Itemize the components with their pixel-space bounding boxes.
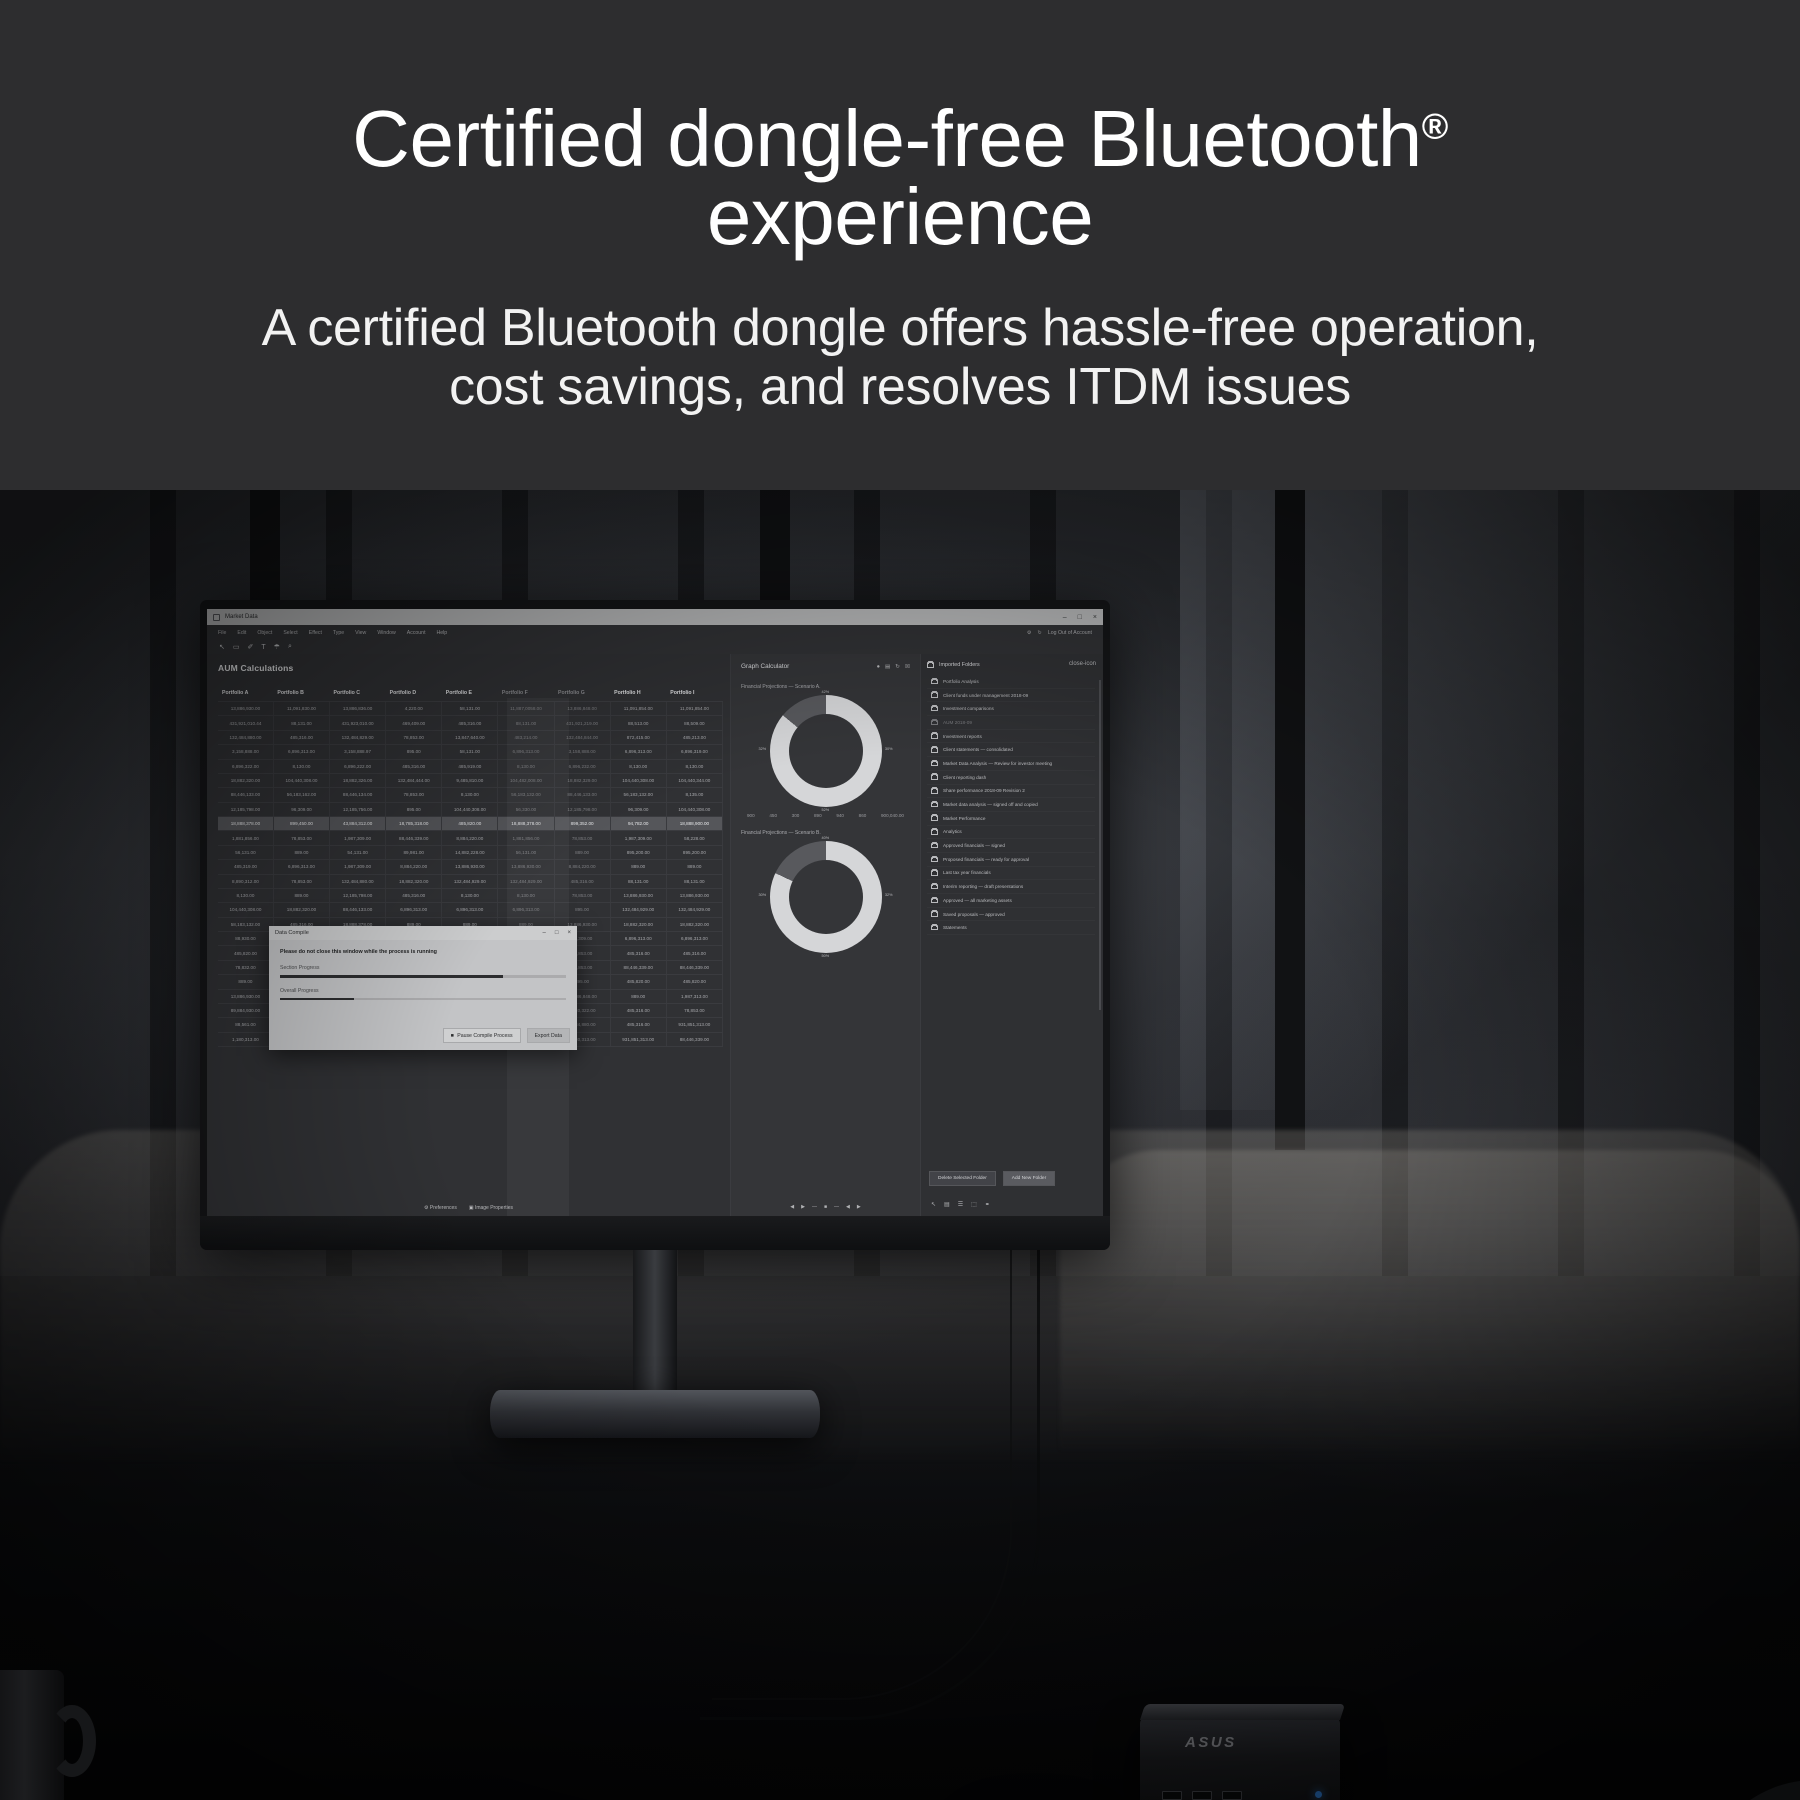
folder-list-item[interactable]: AUM 2018-09 bbox=[927, 716, 1095, 730]
table-cell[interactable]: 88,446,339.00 bbox=[386, 831, 442, 845]
table-cell[interactable]: 889.00 bbox=[554, 845, 610, 859]
sort-icon[interactable]: ☰ bbox=[958, 1201, 963, 1208]
folder-list-item[interactable]: Statements bbox=[927, 921, 1095, 935]
grid-icon[interactable]: ▤ bbox=[885, 664, 890, 670]
table-cell[interactable]: 6,896,232.00 bbox=[554, 759, 610, 773]
table-cell[interactable]: 485,319.00 bbox=[218, 860, 273, 874]
table-row[interactable]: 3,158,888.006,896,313.003,158,888.97895.… bbox=[218, 745, 723, 759]
folder-label: Investment comparisons bbox=[943, 706, 994, 711]
table-cell[interactable]: 931,851,313.00 bbox=[610, 1032, 666, 1046]
table-cell[interactable]: 88,131.00 bbox=[273, 716, 329, 730]
close-icon[interactable]: close-icon bbox=[1069, 661, 1096, 667]
folder-label: Saved proposals — approved bbox=[943, 912, 1005, 917]
column-header[interactable]: Portfolio I bbox=[666, 685, 722, 702]
table-cell[interactable]: 485,820.00 bbox=[442, 817, 498, 831]
donut-hole bbox=[789, 714, 863, 788]
table-cell[interactable]: 13,886,930.00 bbox=[218, 702, 273, 716]
move-icon[interactable]: ↖ bbox=[931, 1201, 936, 1208]
chart-label-left: 30% bbox=[759, 893, 767, 897]
tag-icon[interactable]: ⬚ bbox=[971, 1201, 977, 1208]
table-cell[interactable]: 132,484,829.00 bbox=[330, 730, 386, 744]
table-cell[interactable]: 12,185,798.00 bbox=[330, 888, 386, 902]
donut-ring: 40%30%32%50% bbox=[770, 841, 882, 953]
table-cell[interactable]: 13,847,640.00 bbox=[442, 730, 498, 744]
folder-icon bbox=[931, 706, 938, 712]
table-cell[interactable]: 18,888,900.00 bbox=[666, 817, 722, 831]
table-cell[interactable]: 8,884,220.00 bbox=[442, 831, 498, 845]
data-compile-dialog[interactable]: Data Compile – □ × Please do not close t… bbox=[269, 926, 577, 1050]
graph-tool-icon[interactable]: ■ bbox=[824, 1204, 827, 1210]
folder-icon bbox=[931, 829, 938, 835]
graph-tool-icon[interactable]: ▶ bbox=[857, 1204, 861, 1210]
table-cell[interactable]: 485,316.00 bbox=[386, 759, 442, 773]
graph-tool-icon[interactable]: ◀ bbox=[790, 1204, 794, 1210]
table-cell[interactable]: 1,881,856.00 bbox=[498, 831, 554, 845]
hero-text-block: Certified dongle-free Bluetooth® experie… bbox=[0, 0, 1800, 520]
table-cell[interactable]: 18,882,320.00 bbox=[218, 773, 273, 787]
folder-label: Analytics bbox=[943, 829, 962, 834]
table-cell[interactable]: 88,446,133.00 bbox=[218, 788, 273, 802]
table-cell[interactable]: 132,484,929.00 bbox=[610, 903, 666, 917]
table-cell[interactable]: 58,131.00 bbox=[442, 745, 498, 759]
table-cell[interactable]: 6,896,313.00 bbox=[666, 932, 722, 946]
table-cell[interactable]: 6,896,222.00 bbox=[330, 759, 386, 773]
table-cell[interactable]: 56,183,162.00 bbox=[273, 788, 329, 802]
table-cell[interactable]: 13,886,930.00 bbox=[610, 888, 666, 902]
table-row[interactable]: 18,882,320.00104,440,308.0018,882,326.00… bbox=[218, 773, 723, 787]
page-subtitle: A certified Bluetooth dongle offers hass… bbox=[262, 299, 1539, 418]
table-cell[interactable]: 889.00 bbox=[610, 860, 666, 874]
table-cell[interactable]: 18,888,378.00 bbox=[498, 817, 554, 831]
table-cell[interactable]: 3,158,888.00 bbox=[554, 745, 610, 759]
menu-item-account[interactable]: Account bbox=[407, 630, 426, 636]
tick-label: 450 bbox=[769, 813, 777, 818]
dialog-maximize-button[interactable]: □ bbox=[555, 930, 559, 936]
table-cell[interactable]: 895.00 bbox=[386, 745, 442, 759]
table-cell[interactable]: 78,853.00 bbox=[554, 831, 610, 845]
table-cell[interactable]: 104,440,308.00 bbox=[273, 773, 329, 787]
table-cell[interactable]: 58,183,132.00 bbox=[218, 917, 273, 931]
table-cell[interactable]: 889.00 bbox=[610, 989, 666, 1003]
column-header[interactable]: Portfolio D bbox=[386, 685, 442, 702]
table-cell[interactable]: 8,884,220.00 bbox=[554, 860, 610, 874]
folder-list-item[interactable]: Market data analysis — signed off and co… bbox=[927, 798, 1095, 812]
table-cell[interactable]: 485,820.00 bbox=[610, 975, 666, 989]
folder-list-item[interactable]: Client reporting dash bbox=[927, 771, 1095, 785]
table-cell[interactable]: 469,409.00 bbox=[386, 716, 442, 730]
table-cell[interactable]: 88,513.00 bbox=[610, 716, 666, 730]
tick-label: 300 bbox=[792, 813, 800, 818]
graph-panel-icons: ●▤↻☒ bbox=[877, 664, 910, 670]
folder-icon bbox=[931, 843, 938, 849]
refresh-icon[interactable]: ↻ bbox=[895, 664, 900, 670]
folder-label: Approved financials — signed bbox=[943, 843, 1005, 848]
table-row[interactable]: 88,446,133.0056,183,162.0088,446,134.007… bbox=[218, 788, 723, 802]
graph-tool-icon[interactable]: — bbox=[834, 1204, 839, 1210]
folder-list-item[interactable]: Analytics bbox=[927, 826, 1095, 840]
table-row[interactable]: 13,886,930.0011,091,830.0013,886,836.004… bbox=[218, 702, 723, 716]
table-cell[interactable]: 11,091,854.00 bbox=[666, 702, 722, 716]
table-cell[interactable]: 6,896,313.00 bbox=[498, 745, 554, 759]
overall-progress-bar bbox=[280, 998, 566, 1001]
table-cell[interactable]: 78,853.00 bbox=[554, 888, 610, 902]
table-cell[interactable]: 88,446,339.00 bbox=[666, 1032, 722, 1046]
folder-icon bbox=[931, 733, 938, 739]
table-cell[interactable]: 889.00 bbox=[273, 888, 329, 902]
menu-item-edit[interactable]: Edit bbox=[237, 630, 246, 636]
menubar-right: ⚙↻Log Out of Account bbox=[1027, 630, 1092, 636]
table-cell[interactable]: 12,185,798.00 bbox=[554, 802, 610, 816]
delete-selected-folder-button[interactable]: Delete Selected Folder bbox=[929, 1171, 996, 1186]
donut-ring: 42%32%30%52% bbox=[770, 695, 882, 807]
window-light bbox=[1180, 490, 1800, 1110]
pause-compile-label: Pause Compile Process bbox=[457, 1033, 512, 1039]
folder-icon bbox=[931, 747, 938, 753]
chart-icon[interactable]: ▤ bbox=[944, 1201, 950, 1208]
folder-list-item[interactable]: Last tax year financials bbox=[927, 867, 1095, 881]
table-cell[interactable]: 78,853.00 bbox=[273, 831, 329, 845]
table-cell[interactable]: 12,185,798.00 bbox=[218, 802, 273, 816]
menubar-icon[interactable]: ⚙ bbox=[1027, 630, 1032, 636]
dialog-close-button[interactable]: × bbox=[567, 930, 571, 936]
table-row[interactable]: 431,921,010.4488,131.00431,923,010.00469… bbox=[218, 716, 723, 730]
table-cell[interactable]: 88,446,339.00 bbox=[666, 960, 722, 974]
table-cell[interactable]: 485,316.00 bbox=[386, 888, 442, 902]
table-cell[interactable]: 13,886,930.00 bbox=[666, 888, 722, 902]
graph-tool-icon[interactable]: ▶ bbox=[801, 1204, 805, 1210]
table-cell[interactable]: 485,316.00 bbox=[610, 1018, 666, 1032]
table-cell[interactable]: 13,886,930.00 bbox=[498, 860, 554, 874]
table-cell[interactable]: 1,987,313.00 bbox=[666, 989, 722, 1003]
table-cell[interactable]: 485,316.00 bbox=[610, 1003, 666, 1017]
folder-list-item[interactable]: Proposed financials — ready for approval bbox=[927, 853, 1095, 867]
table-cell[interactable]: 89,981.00 bbox=[386, 845, 442, 859]
window-controls: – □ × bbox=[1063, 614, 1097, 621]
donut-chart: Financial Projections — Scenario A.42%32… bbox=[741, 684, 910, 818]
type-icon[interactable]: T bbox=[261, 644, 265, 651]
table-cell[interactable]: 78,853.00 bbox=[273, 874, 329, 888]
table-cell[interactable]: 88,131.00 bbox=[498, 716, 554, 730]
table-cell[interactable]: 431,923,010.00 bbox=[330, 716, 386, 730]
table-cell[interactable]: 6,896,322.00 bbox=[218, 759, 273, 773]
table-cell[interactable]: 18,882,320.00 bbox=[666, 917, 722, 931]
table-cell[interactable]: 104,482,008.00 bbox=[498, 773, 554, 787]
table-row[interactable]: 18,888,378.00899,450.0043,884,312.0018,7… bbox=[218, 817, 723, 831]
table-cell[interactable]: 899,352.00 bbox=[554, 817, 610, 831]
tick-label: 900 bbox=[747, 813, 755, 818]
chart-label-right: 30% bbox=[885, 747, 893, 751]
table-row[interactable]: 6,896,322.008,130.006,896,222.00485,316.… bbox=[218, 759, 723, 773]
table-cell[interactable]: 11,091,830.00 bbox=[273, 702, 329, 716]
graph-tool-icon[interactable]: ◀ bbox=[846, 1204, 850, 1210]
table-cell[interactable]: 104,440,308.00 bbox=[442, 802, 498, 816]
table-cell[interactable]: 8,890,312.00 bbox=[218, 874, 273, 888]
folder-label: Client reporting dash bbox=[943, 775, 986, 780]
column-header[interactable]: Portfolio G bbox=[554, 685, 610, 702]
folder-list-item[interactable]: Approved financials — signed bbox=[927, 839, 1095, 853]
folder-list-item[interactable]: Portfolio Analysis bbox=[927, 675, 1095, 689]
folder-open-icon bbox=[927, 662, 934, 668]
table-cell[interactable]: 6,896,313.00 bbox=[386, 903, 442, 917]
registered-trademark-icon: ® bbox=[1422, 105, 1448, 146]
table-cell[interactable]: 931,851,313.00 bbox=[666, 1018, 722, 1032]
table-cell[interactable]: 895,200.00 bbox=[666, 845, 722, 859]
menu-item-select[interactable]: Select bbox=[283, 630, 297, 636]
table-cell[interactable]: 6,896,313.00 bbox=[610, 932, 666, 946]
table-cell[interactable]: 6,896,313.00 bbox=[273, 745, 329, 759]
table-cell[interactable]: 895,200.00 bbox=[610, 845, 666, 859]
donut-charts: Financial Projections — Scenario A.42%32… bbox=[741, 684, 910, 953]
table-cell[interactable]: 3,158,888.97 bbox=[330, 745, 386, 759]
donut-chart: Financial Projections — Scenario B.40%30… bbox=[741, 830, 910, 953]
table-cell[interactable]: 78,853.00 bbox=[386, 788, 442, 802]
table-cell[interactable]: 43,884,312.00 bbox=[330, 817, 386, 831]
table-cell[interactable]: 56,183,132.00 bbox=[498, 788, 554, 802]
table-cell[interactable]: 6,896,313.00 bbox=[273, 860, 329, 874]
trash-icon[interactable]: ☒ bbox=[905, 664, 910, 670]
menu-item-file[interactable]: File bbox=[218, 630, 226, 636]
table-cell[interactable]: 8,130.00 bbox=[666, 759, 722, 773]
table-cell[interactable]: 13,886,836.00 bbox=[330, 702, 386, 716]
table-cell[interactable]: 88,446,134.00 bbox=[330, 788, 386, 802]
table-cell[interactable]: 4,220.00 bbox=[386, 702, 442, 716]
table-row[interactable]: 12,185,798.0096,309.0012,185,756.00895.0… bbox=[218, 802, 723, 816]
table-cell[interactable]: 88,131.00 bbox=[610, 874, 666, 888]
table-cell[interactable]: 895.00 bbox=[386, 802, 442, 816]
pen-icon[interactable]: ✐ bbox=[248, 643, 254, 651]
table-cell[interactable]: 6,896,313.00 bbox=[610, 745, 666, 759]
table-cell[interactable]: 8,135.00 bbox=[666, 788, 722, 802]
table-cell[interactable]: 1,881,856.00 bbox=[218, 831, 273, 845]
table-cell[interactable]: 8,130.00 bbox=[498, 759, 554, 773]
table-cell[interactable]: 132,484,880.00 bbox=[218, 730, 273, 744]
table-cell[interactable]: 18,785,318.00 bbox=[386, 817, 442, 831]
table-cell[interactable]: 18,882,320.00 bbox=[386, 874, 442, 888]
table-cell[interactable]: 132,484,844.00 bbox=[554, 730, 610, 744]
table-cell[interactable]: 8,130.00 bbox=[498, 888, 554, 902]
table-cell[interactable]: 485,820.00 bbox=[218, 946, 273, 960]
folder-list-item[interactable]: Approved — all marketing assets bbox=[927, 894, 1095, 908]
table-cell[interactable]: 6,896,313.00 bbox=[498, 903, 554, 917]
scrollbar[interactable] bbox=[1099, 680, 1101, 1010]
table-cell[interactable]: 78,853.00 bbox=[386, 730, 442, 744]
table-cell[interactable]: 485,316.00 bbox=[610, 946, 666, 960]
table-cell[interactable]: 13,886,930.00 bbox=[218, 989, 273, 1003]
table-cell[interactable]: 6,896,319.00 bbox=[666, 745, 722, 759]
table-row[interactable]: 132,484,880.00485,316.00132,484,829.0078… bbox=[218, 730, 723, 744]
table-cell[interactable]: 56,131.00 bbox=[218, 845, 273, 859]
column-header[interactable]: Portfolio E bbox=[442, 685, 498, 702]
folder-label: AUM 2018-09 bbox=[943, 720, 972, 725]
table-cell[interactable]: 12,185,756.00 bbox=[330, 802, 386, 816]
select-arrow-icon[interactable]: ↖ bbox=[219, 643, 225, 651]
section-progress-label: Section Progress bbox=[280, 965, 566, 971]
table-cell[interactable]: 899,450.00 bbox=[273, 817, 329, 831]
table-cell[interactable]: 8,130.00 bbox=[610, 759, 666, 773]
table-cell[interactable]: 3,158,888.00 bbox=[218, 745, 273, 759]
folder-list-item[interactable]: Saved proposals — approved bbox=[927, 908, 1095, 922]
table-cell[interactable]: 104,440,344.00 bbox=[666, 773, 722, 787]
folder-list-item[interactable]: Market Performance bbox=[927, 812, 1095, 826]
table-row[interactable]: 56,131.00889.0054,131.0089,981.0014,882,… bbox=[218, 845, 723, 859]
column-header[interactable]: Portfolio C bbox=[330, 685, 386, 702]
section-progress-bar bbox=[280, 975, 566, 978]
export-data-button[interactable]: Export Data bbox=[527, 1028, 570, 1043]
chart-label-bottom: 50% bbox=[822, 954, 830, 958]
table-cell[interactable]: 485,820.00 bbox=[666, 975, 722, 989]
table-cell[interactable]: 431,921,010.44 bbox=[218, 716, 273, 730]
table-row[interactable]: 104,440,308.0018,882,320.0088,446,133.00… bbox=[218, 903, 723, 917]
table-row[interactable]: 485,319.006,896,313.001,987,309.008,884,… bbox=[218, 860, 723, 874]
table-cell[interactable]: 872,415.00 bbox=[610, 730, 666, 744]
table-cell[interactable]: 94,782.00 bbox=[610, 817, 666, 831]
table-row[interactable]: 8,130.00889.0012,185,798.00485,316.008,1… bbox=[218, 888, 723, 902]
menu-item-effect[interactable]: Effect bbox=[309, 630, 322, 636]
statusbar-item[interactable]: ⚙ Preferences bbox=[424, 1205, 457, 1211]
table-cell[interactable]: 11,887,0058.00 bbox=[498, 702, 554, 716]
table-cell[interactable]: 485,316.00 bbox=[442, 716, 498, 730]
graph-tool-icon[interactable]: — bbox=[812, 1204, 817, 1210]
product-photo-scene: Market Data – □ × FileEditObjectSelectEf… bbox=[0, 490, 1800, 1800]
table-cell[interactable]: 431,921,219.00 bbox=[554, 716, 610, 730]
table-cell[interactable]: 18,882,326.00 bbox=[330, 773, 386, 787]
folder-list-item[interactable]: Client statements — consolidated bbox=[927, 743, 1095, 757]
menu-item-help[interactable]: Help bbox=[437, 630, 448, 636]
column-header[interactable]: Portfolio B bbox=[273, 685, 329, 702]
table-cell[interactable]: 8,130.00 bbox=[218, 888, 273, 902]
table-cell[interactable]: 96,309.00 bbox=[610, 802, 666, 816]
table-cell[interactable]: 8,130.00 bbox=[442, 888, 498, 902]
table-cell[interactable]: 88,509.00 bbox=[666, 716, 722, 730]
menu-item-object[interactable]: Object bbox=[257, 630, 272, 636]
table-cell[interactable]: 14,882,228.00 bbox=[442, 845, 498, 859]
table-cell[interactable]: 56,131.00 bbox=[498, 845, 554, 859]
pause-compile-button[interactable]: ■ Pause Compile Process bbox=[443, 1028, 521, 1043]
table-cell[interactable]: 485,213.00 bbox=[666, 730, 722, 744]
table-cell[interactable]: 88,561.00 bbox=[218, 1018, 273, 1032]
table-cell[interactable]: 483,214.00 bbox=[498, 730, 554, 744]
column-header[interactable]: Portfolio A bbox=[218, 685, 273, 702]
table-cell[interactable]: 104,440,308.00 bbox=[218, 903, 273, 917]
eyedropper-icon[interactable]: ☂ bbox=[274, 643, 280, 651]
table-cell[interactable]: 132,484,929.00 bbox=[442, 874, 498, 888]
table-cell[interactable]: 6,896,313.00 bbox=[442, 903, 498, 917]
table-cell[interactable]: 11,091,854.00 bbox=[610, 702, 666, 716]
table-cell[interactable]: 18,888,378.00 bbox=[218, 817, 273, 831]
table-cell[interactable]: 88,930.00 bbox=[218, 932, 273, 946]
table-cell[interactable]: 485,316.00 bbox=[273, 730, 329, 744]
table-cell[interactable]: 895.00 bbox=[554, 903, 610, 917]
table-cell[interactable]: 88,446,133.00 bbox=[554, 788, 610, 802]
folder-list-item[interactable]: Interim reporting — draft presentations bbox=[927, 880, 1095, 894]
column-header[interactable]: Portfolio F bbox=[498, 685, 554, 702]
folder-list-item[interactable]: Investment reports bbox=[927, 730, 1095, 744]
table-cell[interactable]: 1,987,309.00 bbox=[610, 831, 666, 845]
table-cell[interactable]: 58,228.00 bbox=[666, 831, 722, 845]
table-cell[interactable]: 889.00 bbox=[666, 860, 722, 874]
table-cell[interactable]: 889.00 bbox=[273, 845, 329, 859]
table-cell[interactable]: 56,330.00 bbox=[498, 802, 554, 816]
menu-item-type[interactable]: Type bbox=[333, 630, 344, 636]
folder-list-item[interactable]: Market Data Analysis — Review for invest… bbox=[927, 757, 1095, 771]
folder-label: Market Data Analysis — Review for invest… bbox=[943, 761, 1052, 766]
table-cell[interactable]: 104,440,308.00 bbox=[666, 802, 722, 816]
folder-icon bbox=[931, 692, 938, 698]
table-cell[interactable]: 1,987,309.00 bbox=[330, 860, 386, 874]
statusbar: ⚙ Preferences▣ Image Properties bbox=[207, 1199, 730, 1216]
monitor-stand-base bbox=[490, 1390, 820, 1438]
table-row[interactable]: 8,890,312.0078,853.00132,484,880.0018,88… bbox=[218, 874, 723, 888]
table-cell[interactable]: 78,853.00 bbox=[666, 1003, 722, 1017]
menu-item-view[interactable]: View bbox=[355, 630, 366, 636]
table-cell[interactable]: 58,131.00 bbox=[442, 702, 498, 716]
workspace: AUM Calculations Portfolio APortfolio BP… bbox=[207, 654, 1103, 1216]
folder-list-item[interactable]: Client funds under management 2018-09 bbox=[927, 689, 1095, 703]
table-cell[interactable]: 8,130.00 bbox=[442, 788, 498, 802]
table-cell[interactable]: 54,131.00 bbox=[330, 845, 386, 859]
statusbar-item[interactable]: ▣ Image Properties bbox=[469, 1205, 513, 1211]
table-cell[interactable]: 485,316.00 bbox=[554, 874, 610, 888]
table-cell[interactable]: 104,440,308.00 bbox=[610, 773, 666, 787]
folder-list-item[interactable]: Share performance 2018-09 Revision 2 bbox=[927, 785, 1095, 799]
table-row[interactable]: 1,881,856.0078,853.001,987,309.0088,446,… bbox=[218, 831, 723, 845]
table-cell[interactable]: 89,884,930.00 bbox=[218, 1003, 273, 1017]
rectangle-icon[interactable]: ▭ bbox=[233, 643, 240, 651]
table-cell[interactable]: 56,183,132.00 bbox=[610, 788, 666, 802]
table-cell[interactable]: 88,446,339.00 bbox=[610, 960, 666, 974]
table-cell[interactable]: 132,484,929.00 bbox=[498, 874, 554, 888]
logout-link[interactable]: Log Out of Account bbox=[1048, 630, 1092, 636]
table-cell[interactable]: 132,484,880.00 bbox=[330, 874, 386, 888]
link-icon[interactable]: ⚭ bbox=[985, 1201, 990, 1208]
table-cell[interactable]: 1,180,313.00 bbox=[218, 1032, 273, 1046]
table-cell[interactable]: 13,886,930.00 bbox=[442, 860, 498, 874]
table-cell[interactable]: 9,485,810.00 bbox=[442, 773, 498, 787]
table-cell[interactable]: 485,919.00 bbox=[442, 759, 498, 773]
menubar-icon[interactable]: ↻ bbox=[1038, 630, 1042, 636]
table-cell[interactable]: 132,484,929.00 bbox=[666, 903, 722, 917]
table-cell[interactable]: 18,882,320.00 bbox=[273, 903, 329, 917]
dialog-minimize-button[interactable]: – bbox=[543, 930, 546, 936]
folder-list-item[interactable]: Investment comparisons bbox=[927, 702, 1095, 716]
zoom-icon[interactable]: ⌕ bbox=[288, 643, 292, 651]
minimize-button[interactable]: – bbox=[1063, 614, 1067, 621]
table-cell[interactable]: 132,484,444.00 bbox=[386, 773, 442, 787]
table-cell[interactable]: 18,882,320.00 bbox=[610, 917, 666, 931]
folder-icon bbox=[931, 857, 938, 863]
table-cell[interactable]: 13,886,848.00 bbox=[554, 702, 610, 716]
table-cell[interactable]: 18,882,329.00 bbox=[554, 773, 610, 787]
add-new-folder-button[interactable]: Add New Folder bbox=[1003, 1171, 1055, 1186]
menu-item-window[interactable]: Window bbox=[377, 630, 395, 636]
table-cell[interactable]: 88,131.00 bbox=[666, 874, 722, 888]
window-titlebar: Market Data – □ × bbox=[207, 609, 1103, 625]
table-cell[interactable]: 889.00 bbox=[218, 975, 273, 989]
cable bbox=[712, 1250, 1012, 1700]
table-cell[interactable]: 8,884,220.00 bbox=[386, 860, 442, 874]
table-cell[interactable]: 96,309.00 bbox=[273, 802, 329, 816]
headline-line-1: Certified dongle-free Bluetooth bbox=[352, 94, 1422, 183]
table-cell[interactable]: 8,130.00 bbox=[273, 759, 329, 773]
table-cell[interactable]: 88,446,133.00 bbox=[330, 903, 386, 917]
maximize-button[interactable]: □ bbox=[1078, 614, 1082, 621]
table-cell[interactable]: 485,316.00 bbox=[666, 946, 722, 960]
close-button[interactable]: × bbox=[1093, 614, 1097, 621]
record-icon[interactable]: ● bbox=[877, 664, 880, 670]
table-cell[interactable]: 1,987,309.00 bbox=[330, 831, 386, 845]
column-header[interactable]: Portfolio H bbox=[610, 685, 666, 702]
table-cell[interactable]: 78,832.00 bbox=[218, 960, 273, 974]
